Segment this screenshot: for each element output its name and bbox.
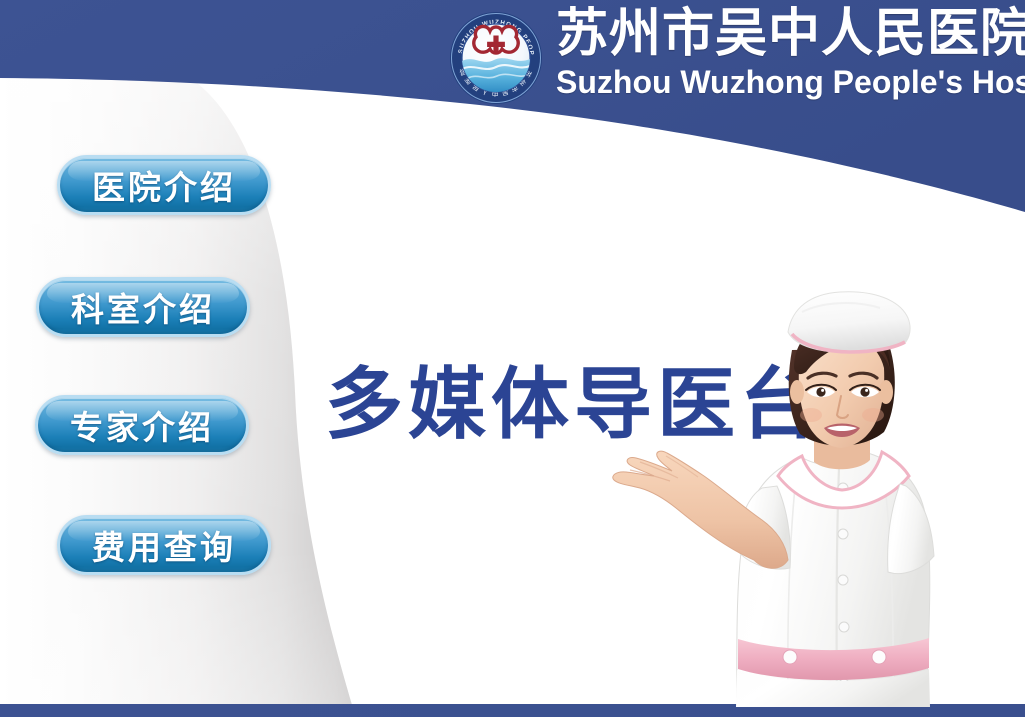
expert-intro-button[interactable]: 专家介绍 [35,395,249,455]
header-content: SUZHOU WUZHONG PEOPLE'S HOSPITAL 苏州市吴中人民… [448,4,1023,116]
expert-intro-button-label: 专家介绍 [70,401,214,449]
fee-inquiry-button-label: 费用查询 [92,521,236,569]
hospital-name-block: 苏州市吴中人民医院 Suzhou Wuzhong People's Hospit… [544,4,1025,102]
department-intro-button-label: 科室介绍 [71,283,215,331]
hospital-intro-button-label: 医院介绍 [92,161,236,209]
nurse-photo [596,272,1025,707]
kiosk-screen: SUZHOU WUZHONG PEOPLE'S HOSPITAL 苏州市吴中人民… [0,0,1025,717]
hospital-name-cn: 苏州市吴中人民医院 [556,4,1025,64]
hospital-logo: SUZHOU WUZHONG PEOPLE'S HOSPITAL 苏州市吴中人民… [448,9,544,107]
department-intro-button[interactable]: 科室介绍 [36,277,250,337]
nurse-cap [788,292,910,353]
hospital-emblem-icon: SUZHOU WUZHONG PEOPLE'S HOSPITAL 苏州市吴中人民… [448,9,544,107]
hospital-intro-button[interactable]: 医院介绍 [57,155,271,215]
fee-inquiry-button[interactable]: 费用查询 [57,515,271,575]
hospital-name-en: Suzhou Wuzhong People's Hospital [556,62,1025,102]
